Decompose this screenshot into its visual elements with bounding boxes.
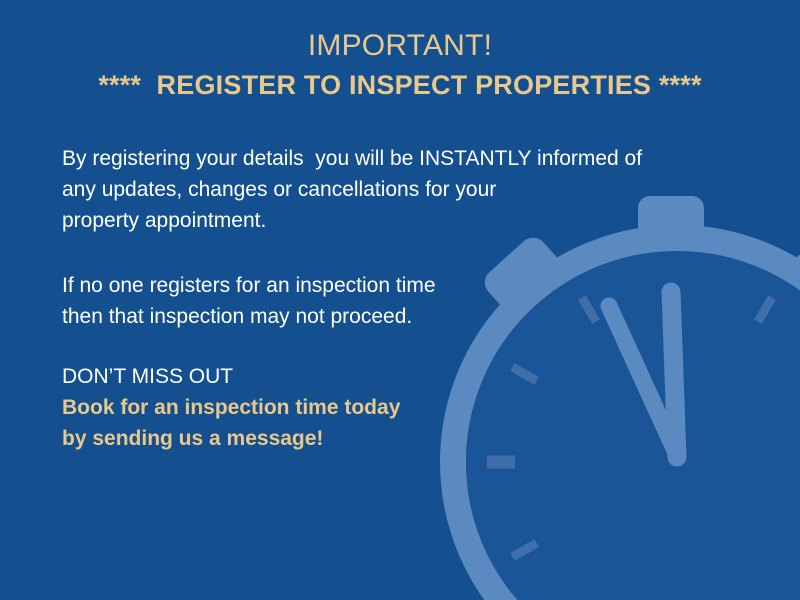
headline-register: **** REGISTER TO INSPECT PROPERTIES ****	[0, 66, 800, 104]
paragraph-line: If no one registers for an inspection ti…	[62, 270, 752, 301]
paragraph-line: any updates, changes or cancellations fo…	[62, 174, 752, 205]
paragraph-line: property appointment.	[62, 205, 752, 236]
cta-book-inspection: Book for an inspection time today	[62, 392, 752, 423]
paragraph-no-registration-warning: If no one registers for an inspection ti…	[62, 270, 752, 332]
text-layer: IMPORTANT! **** REGISTER TO INSPECT PROP…	[0, 0, 800, 600]
cta-dont-miss-out: DON’T MISS OUT	[62, 361, 752, 392]
paragraph-line: then that inspection may not proceed.	[62, 301, 752, 332]
headline-important: IMPORTANT!	[0, 26, 800, 66]
cta-send-message: by sending us a message!	[62, 423, 752, 454]
paragraph-call-to-action: DON’T MISS OUT Book for an inspection ti…	[62, 361, 752, 454]
paragraph-registering-details: By registering your details you will be …	[62, 143, 752, 236]
paragraph-line: By registering your details you will be …	[62, 143, 752, 174]
slide-canvas: IMPORTANT! **** REGISTER TO INSPECT PROP…	[0, 0, 800, 600]
headline-block: IMPORTANT! **** REGISTER TO INSPECT PROP…	[0, 26, 800, 104]
